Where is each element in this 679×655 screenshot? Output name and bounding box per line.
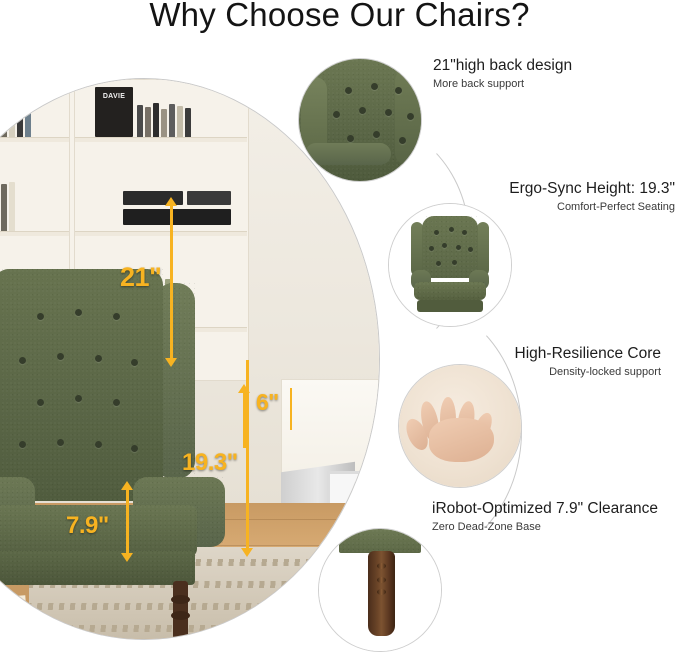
feature-callout-resilience-core: High-Resilience Core Density-locked supp… xyxy=(515,345,661,379)
hand-illustration xyxy=(401,397,506,468)
feature-title: 21"high back design xyxy=(433,57,572,76)
mini-chair-shape xyxy=(411,216,489,316)
shelf-box xyxy=(123,209,231,225)
feature-thumb-robot-clearance[interactable] xyxy=(318,528,442,652)
feature-subtitle: More back support xyxy=(433,78,572,91)
book-row xyxy=(137,101,241,137)
dimension-line-leg-clearance xyxy=(126,488,129,556)
wood-leg-closeup-image xyxy=(319,529,441,651)
feature-thumb-resilience-core[interactable] xyxy=(398,364,522,488)
feature-subtitle: Comfort-Perfect Seating xyxy=(509,201,675,214)
book-row xyxy=(0,187,17,231)
chair-base-fabric xyxy=(339,529,422,553)
arrow-up-icon xyxy=(165,197,177,206)
book-row xyxy=(0,101,63,137)
chair-base-skirt xyxy=(0,551,195,585)
green-armchair xyxy=(0,269,237,569)
dimension-line-seat-height xyxy=(246,360,249,550)
feature-title: iRobot-Optimized 7.9" Clearance xyxy=(432,500,658,519)
page-title: Why Choose Our Chairs? xyxy=(0,0,679,34)
arrow-down-icon xyxy=(241,548,253,557)
dimension-tick-arm xyxy=(290,388,292,430)
feature-title: Ergo-Sync Height: 19.3" xyxy=(509,180,675,199)
feature-subtitle: Zero Dead-Zone Base xyxy=(432,521,658,534)
feature-thumb-high-back[interactable] xyxy=(298,58,422,182)
dimension-label-leg-clearance: 7.9" xyxy=(66,512,109,540)
turned-wood-leg xyxy=(368,551,395,636)
shelf-board xyxy=(0,137,247,142)
dimension-label-arm-height: 6" xyxy=(256,389,279,416)
feature-thumb-ergo-sync[interactable] xyxy=(388,203,512,327)
feature-callout-ergo-sync: Ergo-Sync Height: 19.3" Comfort-Perfect … xyxy=(509,180,675,214)
arrow-down-icon xyxy=(165,358,177,367)
feature-callout-high-back: 21"high back design More back support xyxy=(433,57,572,91)
chair-leg xyxy=(173,581,188,640)
hand-pressing-foam-image xyxy=(399,365,521,487)
shelf-board xyxy=(0,231,247,236)
arrow-up-icon xyxy=(121,481,133,490)
feature-subtitle: Density-locked support xyxy=(515,366,661,379)
featured-book: DAVIE xyxy=(95,87,133,137)
chair-back xyxy=(0,269,163,501)
tufted-chair-back-closeup-image xyxy=(299,59,421,181)
feature-title: High-Resilience Core xyxy=(515,345,661,364)
shelf-box xyxy=(187,191,231,205)
full-chair-front-view-image xyxy=(389,204,511,326)
book-title-text: DAVIE xyxy=(95,87,133,101)
dimension-label-back-height: 21" xyxy=(120,262,161,293)
dimension-label-seat-height: 19.3" xyxy=(182,449,238,477)
paper-stack xyxy=(0,595,28,640)
arrow-down-icon xyxy=(121,553,133,562)
feature-callout-robot-clearance: iRobot-Optimized 7.9" Clearance Zero Dea… xyxy=(432,500,658,534)
dimension-line-back-height xyxy=(170,205,173,360)
